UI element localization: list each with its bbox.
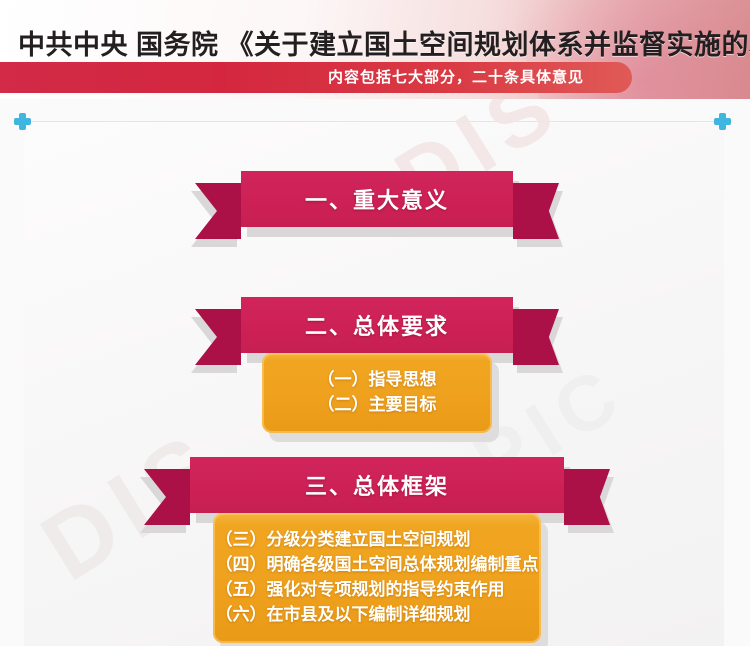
panel-divider [24,121,724,122]
list-item: （一）指导思想 [318,367,437,392]
list-item: （三）分级分类建立国土空间规划 [216,527,539,552]
section-3: 三、总体框架 （三）分级分类建立国土空间规划 （四）明确各级国土空间总体规划编制… [190,457,564,643]
page-header: 中共中央 国务院 《关于建立国土空间规划体系并监督实施的若干意见》 内容包括七大… [0,0,750,99]
section-heading: 二、总体要求 [305,309,449,341]
ribbon-banner: 三、总体框架 [190,457,564,513]
section-content-box: （一）指导思想 （二）主要目标 [262,353,492,433]
ribbon-bar: 二、总体要求 [241,297,513,353]
slide-page: 中共中央 国务院 《关于建立国土空间规划体系并监督实施的若干意见》 内容包括七大… [0,0,750,646]
section-content-box: （三）分级分类建立国土空间规划 （四）明确各级国土空间总体规划编制重点 （五）强… [213,513,541,643]
section-heading: 三、总体框架 [305,469,449,501]
content-box: （三）分级分类建立国土空间规划 （四）明确各级国土空间总体规划编制重点 （五）强… [213,513,541,643]
section-heading: 一、重大意义 [305,183,449,215]
ribbon-bar: 三、总体框架 [190,457,564,513]
content-box: （一）指导思想 （二）主要目标 [262,353,492,433]
section-item-list: （一）指导思想 （二）主要目标 [318,367,437,417]
content-panel: DIS DIS PIC 一、重大意义 [0,99,750,646]
subtitle-bar: 内容包括七大部分，二十条具体意见 [0,62,632,93]
list-item: （四）明确各级国土空间总体规划编制重点 [216,552,539,577]
cross-icon [714,113,731,130]
ribbon-bar: 一、重大意义 [241,171,513,227]
ribbon-banner: 一、重大意义 [241,171,513,227]
subtitle-text: 内容包括七大部分，二十条具体意见 [328,62,584,93]
ribbon-banner: 二、总体要求 [241,297,513,353]
page-title: 中共中央 国务院 《关于建立国土空间规划体系并监督实施的若干意见》 [18,23,750,62]
list-item: （五）强化对专项规划的指导约束作用 [216,577,539,602]
list-item: （二）主要目标 [318,392,437,417]
section-item-list: （三）分级分类建立国土空间规划 （四）明确各级国土空间总体规划编制重点 （五）强… [216,527,539,627]
section-1: 一、重大意义 [241,171,513,227]
cross-icon [14,113,31,130]
section-2: 二、总体要求 （一）指导思想 （二）主要目标 [241,297,513,433]
list-item: （六）在市县及以下编制详细规划 [216,602,539,627]
